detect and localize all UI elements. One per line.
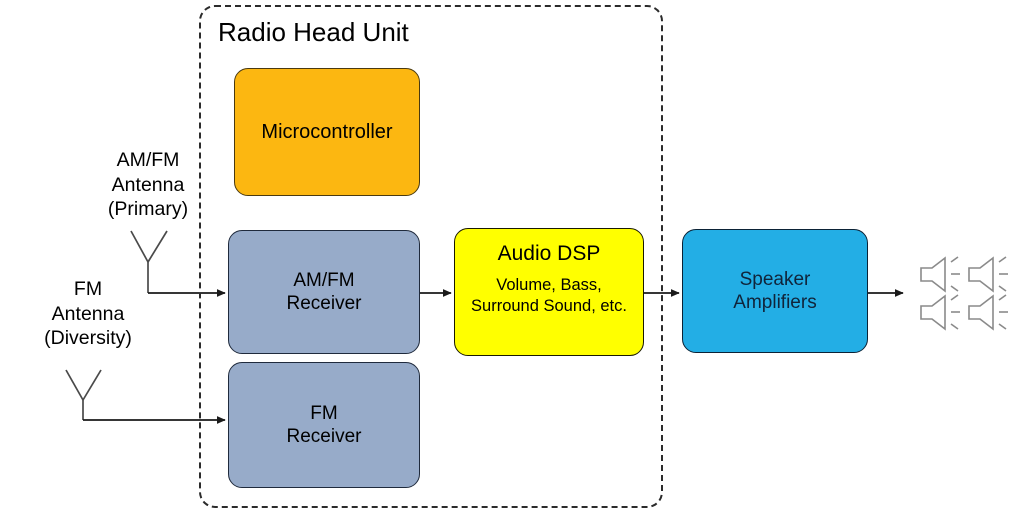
node-audio-dsp-label: Audio DSP [498, 241, 601, 267]
speaker-icon [969, 295, 1008, 329]
node-speaker-amplifiers[interactable]: Speaker Amplifiers [682, 229, 868, 353]
node-amfm-receiver[interactable]: AM/FM Receiver [228, 230, 420, 354]
antenna-icon-diversity [66, 370, 101, 420]
antenna-label-fm-diversity: FM Antenna (Diversity) [18, 277, 158, 351]
node-microcontroller-label: Microcontroller [261, 120, 392, 144]
diagram-canvas: Radio Head Unit AM/FM Antenna (Primary) … [0, 0, 1012, 513]
speaker-icon [921, 257, 960, 291]
speaker-icon [969, 257, 1008, 291]
node-fm-receiver[interactable]: FM Receiver [228, 362, 420, 488]
node-microcontroller[interactable]: Microcontroller [234, 68, 420, 196]
node-fm-receiver-label: FM Receiver [287, 402, 362, 448]
speaker-icon [921, 295, 960, 329]
node-audio-dsp-sublabel: Volume, Bass, Surround Sound, etc. [471, 275, 627, 318]
radio-head-unit-title: Radio Head Unit [218, 17, 409, 48]
node-speaker-amplifiers-label: Speaker Amplifiers [733, 268, 816, 314]
node-amfm-receiver-label: AM/FM Receiver [287, 269, 362, 315]
antenna-label-am-fm-primary: AM/FM Antenna (Primary) [78, 148, 218, 222]
speaker-icon-group [921, 257, 1008, 329]
node-audio-dsp[interactable]: Audio DSP Volume, Bass, Surround Sound, … [454, 228, 644, 356]
